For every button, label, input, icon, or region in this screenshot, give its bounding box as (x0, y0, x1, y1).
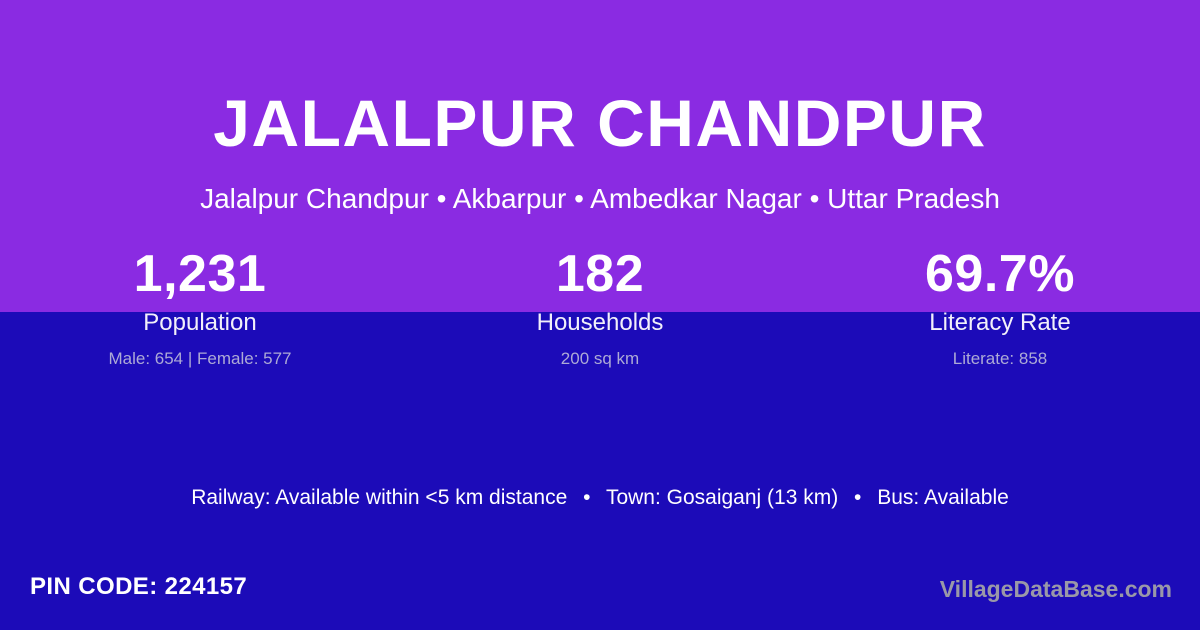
stat-households-value: 182 (400, 243, 800, 305)
amenity-bus: Bus: Available (877, 486, 1009, 509)
page-title: JALALPUR CHANDPUR (0, 86, 1200, 160)
pin-code-label: PIN CODE: 224157 (30, 572, 247, 602)
stat-population-label: Population (0, 307, 400, 339)
stat-households-label: Households (400, 307, 800, 339)
stat-population-sub: Male: 654 | Female: 577 (0, 347, 400, 371)
amenities-line: Railway: Available within <5 km distance… (0, 483, 1200, 513)
brand-watermark: VillageDataBase.com (940, 574, 1172, 604)
stat-literacy-rate-label: Literacy Rate (800, 307, 1200, 339)
amenity-separator-1: • (573, 483, 600, 513)
stat-literacy-rate-value: 69.7% (800, 243, 1200, 305)
breadcrumb: Jalalpur Chandpur • Akbarpur • Ambedkar … (0, 182, 1200, 216)
amenity-railway: Railway: Available within <5 km distance (191, 486, 567, 509)
stat-households-sub: 200 sq km (400, 347, 800, 371)
stat-population-value: 1,231 (0, 243, 400, 305)
amenity-separator-2: • (844, 483, 871, 513)
stat-households: 182 Households 200 sq km (400, 243, 800, 371)
stat-literacy-rate: 69.7% Literacy Rate Literate: 858 (800, 243, 1200, 371)
stats-row: 1,231 Population Male: 654 | Female: 577… (0, 243, 1200, 371)
amenity-town: Town: Gosaiganj (13 km) (606, 486, 838, 509)
village-info-card: JALALPUR CHANDPUR Jalalpur Chandpur • Ak… (0, 0, 1200, 630)
stat-literacy-rate-sub: Literate: 858 (800, 347, 1200, 371)
footer: PIN CODE: 224157 VillageDataBase.com (0, 558, 1200, 630)
stat-population: 1,231 Population Male: 654 | Female: 577 (0, 243, 400, 371)
